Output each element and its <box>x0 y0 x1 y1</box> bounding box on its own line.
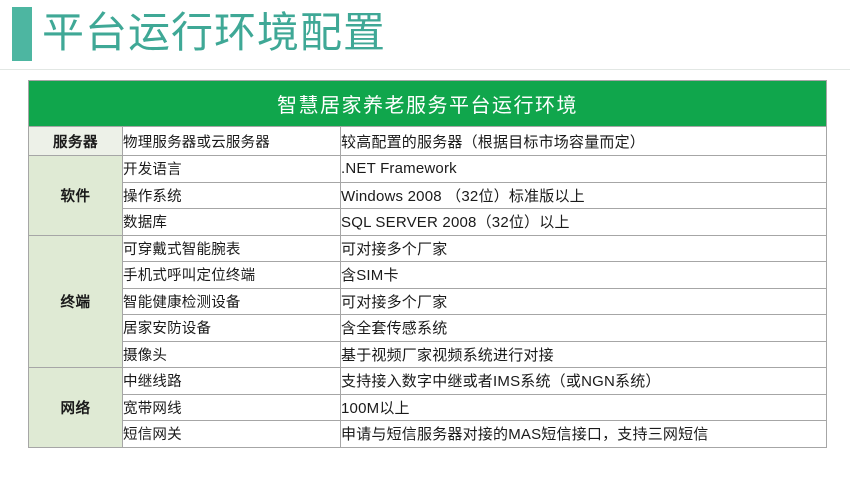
environment-config-table: 智慧居家养老服务平台运行环境 服务器 物理服务器或云服务器 较高配置的服务器（根… <box>28 80 827 448</box>
spec-cell: 含全套传感系统 <box>341 315 827 342</box>
table-row: 摄像头 基于视频厂家视频系统进行对接 <box>29 341 827 368</box>
table-row: 手机式呼叫定位终端 含SIM卡 <box>29 262 827 289</box>
item-cell: 操作系统 <box>123 182 341 209</box>
table-row: 服务器 物理服务器或云服务器 较高配置的服务器（根据目标市场容量而定） <box>29 127 827 156</box>
item-cell: 手机式呼叫定位终端 <box>123 262 341 289</box>
item-cell: 宽带网线 <box>123 394 341 421</box>
item-cell: 居家安防设备 <box>123 315 341 342</box>
spec-cell: 申请与短信服务器对接的MAS短信接口，支持三网短信 <box>341 421 827 448</box>
item-cell: 物理服务器或云服务器 <box>123 127 341 156</box>
table-row: 网络 中继线路 支持接入数字中继或者IMS系统（或NGN系统） <box>29 368 827 395</box>
table-row: 终端 可穿戴式智能腕表 可对接多个厂家 <box>29 235 827 262</box>
spec-cell: 含SIM卡 <box>341 262 827 289</box>
spec-cell: SQL SERVER 2008（32位）以上 <box>341 209 827 236</box>
table-title: 智慧居家养老服务平台运行环境 <box>29 81 827 127</box>
slide-canvas: 平台运行环境配置 智慧居家养老服务平台运行环境 服务器 物理服务器或云服务器 较… <box>0 0 850 503</box>
spec-cell: .NET Framework <box>341 156 827 183</box>
spec-cell: 支持接入数字中继或者IMS系统（或NGN系统） <box>341 368 827 395</box>
spec-cell: 可对接多个厂家 <box>341 235 827 262</box>
title-accent-bar <box>12 7 32 61</box>
item-cell: 中继线路 <box>123 368 341 395</box>
category-cell-terminal: 终端 <box>29 235 123 368</box>
item-cell: 开发语言 <box>123 156 341 183</box>
page-title: 平台运行环境配置 <box>42 4 386 62</box>
item-cell: 可穿戴式智能腕表 <box>123 235 341 262</box>
category-cell-server: 服务器 <box>29 127 123 156</box>
table-row: 软件 开发语言 .NET Framework <box>29 156 827 183</box>
title-divider <box>0 69 850 70</box>
spec-cell: Windows 2008 （32位）标准版以上 <box>341 182 827 209</box>
table-row: 居家安防设备 含全套传感系统 <box>29 315 827 342</box>
spec-cell: 可对接多个厂家 <box>341 288 827 315</box>
table-row: 数据库 SQL SERVER 2008（32位）以上 <box>29 209 827 236</box>
slide-title-block: 平台运行环境配置 <box>0 0 850 70</box>
table-row: 智能健康检测设备 可对接多个厂家 <box>29 288 827 315</box>
item-cell: 智能健康检测设备 <box>123 288 341 315</box>
table-row: 宽带网线 100M以上 <box>29 394 827 421</box>
category-cell-network: 网络 <box>29 368 123 448</box>
table-header-row: 智慧居家养老服务平台运行环境 <box>29 81 827 127</box>
table-row: 短信网关 申请与短信服务器对接的MAS短信接口，支持三网短信 <box>29 421 827 448</box>
category-cell-software: 软件 <box>29 156 123 236</box>
item-cell: 摄像头 <box>123 341 341 368</box>
spec-cell: 100M以上 <box>341 394 827 421</box>
spec-cell: 较高配置的服务器（根据目标市场容量而定） <box>341 127 827 156</box>
spec-cell: 基于视频厂家视频系统进行对接 <box>341 341 827 368</box>
item-cell: 数据库 <box>123 209 341 236</box>
table-row: 操作系统 Windows 2008 （32位）标准版以上 <box>29 182 827 209</box>
item-cell: 短信网关 <box>123 421 341 448</box>
